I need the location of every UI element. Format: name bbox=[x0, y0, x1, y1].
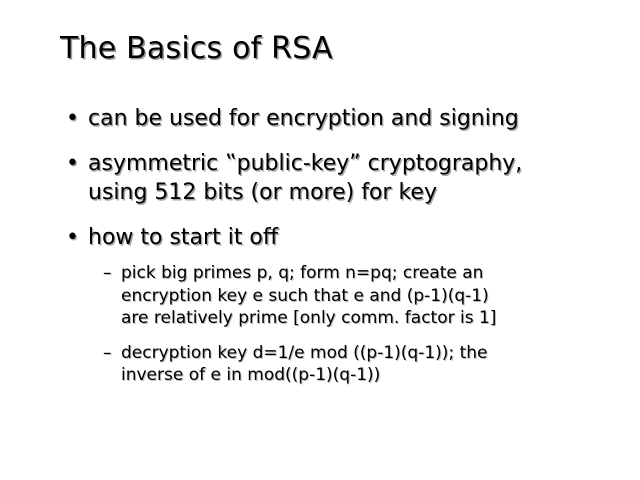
bullet-item-2-label: asymmetric ‟public-key” cryptography, us… bbox=[88, 149, 592, 207]
bullet-dot-icon: • bbox=[62, 223, 88, 252]
bullet-item-3-label: how to start it off bbox=[88, 223, 592, 252]
bullet-dash-icon: – bbox=[103, 262, 121, 285]
page-title: The Basics of RSA bbox=[60, 30, 600, 68]
bullet-dash-icon: – bbox=[103, 342, 121, 365]
sub-bullet-item-1-label: pick big primes p, q; form n=pq; create … bbox=[121, 262, 576, 330]
bullet-dot-icon: • bbox=[62, 104, 88, 133]
sub-bullet-item-2-label: decryption key d=1/e mod ((p-1)(q-1)); t… bbox=[121, 342, 576, 387]
sub-bullet-item-1: – pick big primes p, q; form n=pq; creat… bbox=[103, 262, 592, 330]
bullet-item-3: • how to start it off bbox=[62, 223, 592, 252]
sub-bullet-item-1-line-1: pick big primes p, q; form n=pq; create … bbox=[121, 262, 576, 285]
sub-bullet-item-2-line-2: inverse of e in mod((p-1)(q-1)) bbox=[121, 364, 576, 387]
sub-bullet-item-2: – decryption key d=1/e mod ((p-1)(q-1));… bbox=[103, 342, 592, 387]
bullet-dot-icon: • bbox=[62, 149, 88, 178]
slide-canvas: The Basics of RSA • can be used for encr… bbox=[0, 0, 640, 480]
sub-bullet-item-1-line-3: are relatively prime [only comm. factor … bbox=[121, 307, 576, 330]
sub-bullet-list: – pick big primes p, q; form n=pq; creat… bbox=[103, 262, 592, 387]
sub-bullet-item-1-line-2: encryption key e such that e and (p-1)(q… bbox=[121, 285, 576, 308]
bullet-item-1-label: can be used for encryption and signing bbox=[88, 104, 592, 133]
bullet-item-2: • asymmetric ‟public-key” cryptography, … bbox=[62, 149, 592, 207]
bullet-item-2-line-2: using 512 bits (or more) for key bbox=[88, 178, 592, 207]
bullet-item-1: • can be used for encryption and signing bbox=[62, 104, 592, 133]
slide-body-list: • can be used for encryption and signing… bbox=[62, 104, 592, 387]
bullet-item-2-line-1: asymmetric ‟public-key” cryptography, bbox=[88, 149, 592, 178]
sub-bullet-item-2-line-1: decryption key d=1/e mod ((p-1)(q-1)); t… bbox=[121, 342, 576, 365]
